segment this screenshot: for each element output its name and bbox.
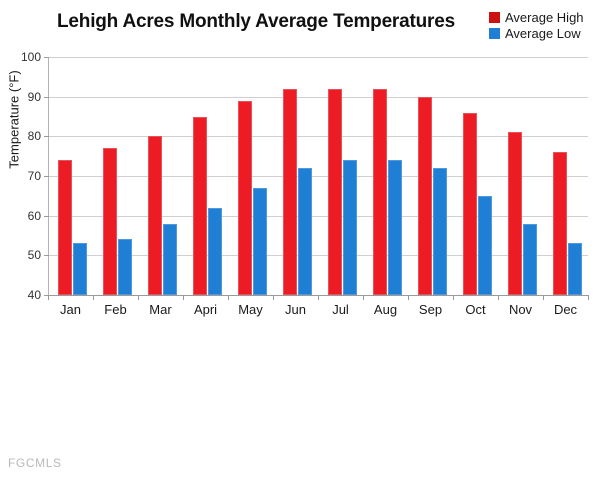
y-axis-tick-label: 70 bbox=[7, 170, 41, 182]
y-axis-tick-mark bbox=[44, 136, 49, 137]
bar-average-low[interactable] bbox=[73, 243, 87, 295]
legend-swatch-icon bbox=[489, 12, 500, 23]
chart-page: { "chart_data": { "type": "bar", "title"… bbox=[0, 0, 603, 480]
legend-swatch-icon bbox=[489, 28, 500, 39]
bar-group bbox=[193, 57, 223, 295]
bar-average-low[interactable] bbox=[523, 224, 537, 295]
y-axis-tick-label: 80 bbox=[7, 130, 41, 142]
y-axis-tick-mark bbox=[44, 216, 49, 217]
legend-label: Average High bbox=[505, 11, 584, 24]
y-axis-tick-label: 50 bbox=[7, 249, 41, 261]
bar-average-high[interactable] bbox=[238, 101, 252, 295]
x-axis-tick-mark bbox=[138, 295, 139, 300]
bar-average-low[interactable] bbox=[118, 239, 132, 295]
bar-average-low[interactable] bbox=[253, 188, 267, 295]
bar-average-low[interactable] bbox=[568, 243, 582, 295]
bar-group bbox=[463, 57, 493, 295]
y-axis-tick-label: 60 bbox=[7, 210, 41, 222]
bar-average-low[interactable] bbox=[388, 160, 402, 295]
bar-average-high[interactable] bbox=[193, 117, 207, 296]
x-axis-tick-mark bbox=[408, 295, 409, 300]
plot-area bbox=[48, 57, 588, 295]
x-axis-tick-mark bbox=[93, 295, 94, 300]
bar-average-high[interactable] bbox=[58, 160, 72, 295]
legend-item[interactable]: Average High bbox=[489, 10, 584, 25]
bar-average-high[interactable] bbox=[373, 89, 387, 295]
y-axis-tick-label: 100 bbox=[7, 51, 41, 63]
y-axis-tick-mark bbox=[44, 57, 49, 58]
y-axis-tick-label: 40 bbox=[7, 289, 41, 301]
y-axis-tick-mark bbox=[44, 97, 49, 98]
bar-average-low[interactable] bbox=[478, 196, 492, 295]
x-axis-tick-mark bbox=[498, 295, 499, 300]
bar-average-low[interactable] bbox=[433, 168, 447, 295]
x-axis-tick-mark bbox=[183, 295, 184, 300]
bar-group bbox=[283, 57, 313, 295]
x-axis-tick-mark bbox=[453, 295, 454, 300]
bar-group bbox=[553, 57, 583, 295]
bar-group bbox=[238, 57, 268, 295]
bar-group bbox=[373, 57, 403, 295]
x-axis-tick-label: Dec bbox=[536, 302, 596, 317]
legend-item[interactable]: Average Low bbox=[489, 26, 584, 41]
bar-average-low[interactable] bbox=[208, 208, 222, 295]
bar-average-high[interactable] bbox=[418, 97, 432, 295]
y-axis-tick-labels: 100908070605040 bbox=[0, 57, 41, 295]
page-title: Lehigh Acres Monthly Average Temperature… bbox=[46, 11, 466, 33]
x-axis-tick-mark bbox=[273, 295, 274, 300]
bar-group bbox=[58, 57, 88, 295]
x-axis-tick-mark bbox=[363, 295, 364, 300]
bar-group bbox=[418, 57, 448, 295]
bar-average-high[interactable] bbox=[508, 132, 522, 295]
y-axis-tick-mark bbox=[44, 255, 49, 256]
bar-average-low[interactable] bbox=[298, 168, 312, 295]
bar-group bbox=[508, 57, 538, 295]
bar-average-low[interactable] bbox=[343, 160, 357, 295]
x-axis-tick-mark bbox=[543, 295, 544, 300]
x-axis-tick-mark bbox=[588, 295, 589, 300]
legend-label: Average Low bbox=[505, 27, 581, 40]
x-axis-tick-mark bbox=[318, 295, 319, 300]
y-axis-tick-mark bbox=[44, 176, 49, 177]
chart-legend: Average HighAverage Low bbox=[489, 10, 584, 41]
y-axis-tick-label: 90 bbox=[7, 91, 41, 103]
bar-average-high[interactable] bbox=[553, 152, 567, 295]
x-axis-tick-mark bbox=[48, 295, 49, 300]
bar-average-high[interactable] bbox=[283, 89, 297, 295]
bar-average-low[interactable] bbox=[163, 224, 177, 295]
bar-average-high[interactable] bbox=[463, 113, 477, 295]
bar-group bbox=[148, 57, 178, 295]
bar-average-high[interactable] bbox=[103, 148, 117, 295]
x-axis-tick-mark bbox=[228, 295, 229, 300]
bar-average-high[interactable] bbox=[148, 136, 162, 295]
bar-group bbox=[328, 57, 358, 295]
watermark: FGCMLS bbox=[8, 456, 62, 470]
bar-average-high[interactable] bbox=[328, 89, 342, 295]
bar-group bbox=[103, 57, 133, 295]
